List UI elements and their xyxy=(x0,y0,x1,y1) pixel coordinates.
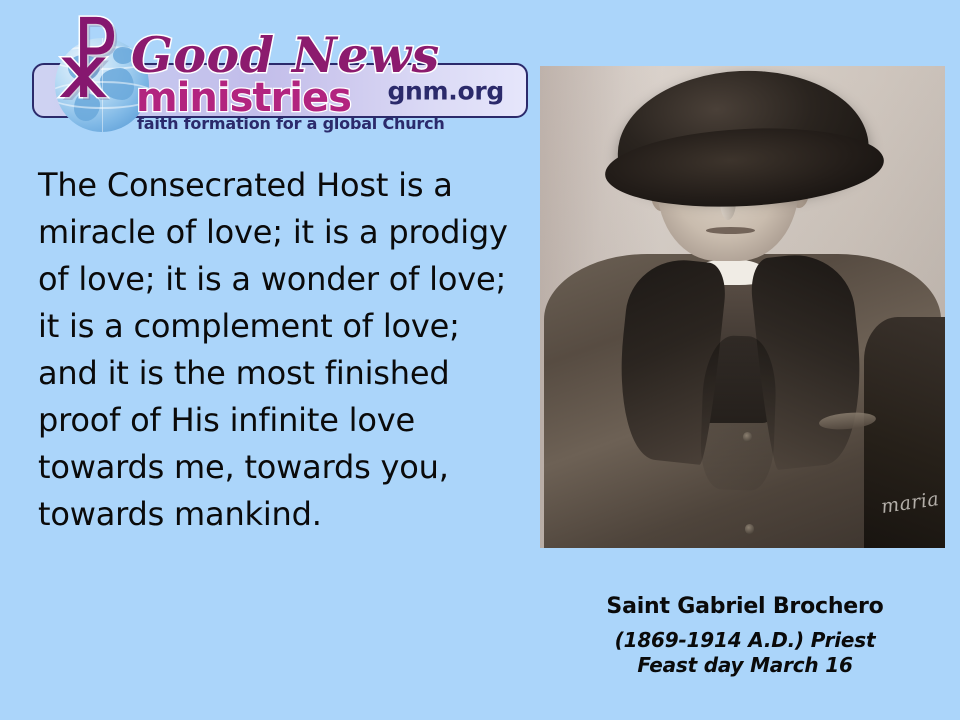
saint-portrait-photo: maria xyxy=(540,66,945,548)
logo-bold-name: ministries xyxy=(136,78,351,118)
quote-slide: gnm.org ☧ Good News ministries faith for… xyxy=(0,0,960,720)
caption-block: Saint Gabriel Brochero (1869-1914 A.D.) … xyxy=(540,592,950,678)
portrait-coat-button xyxy=(745,524,755,534)
chi-rho-icon: ☧ xyxy=(44,26,130,112)
portrait-background: maria xyxy=(540,66,945,548)
quote-text: The Consecrated Host is a miracle of lov… xyxy=(38,162,528,538)
saint-feast-day: Feast day March 16 xyxy=(540,653,950,678)
portrait-coat-shadow xyxy=(699,335,777,492)
saint-dates: (1869-1914 A.D.) Priest xyxy=(540,628,950,653)
logo-tagline: faith formation for a global Church xyxy=(137,116,445,132)
saint-name: Saint Gabriel Brochero xyxy=(540,592,950,622)
logo-script-name: Good News xyxy=(131,31,440,80)
